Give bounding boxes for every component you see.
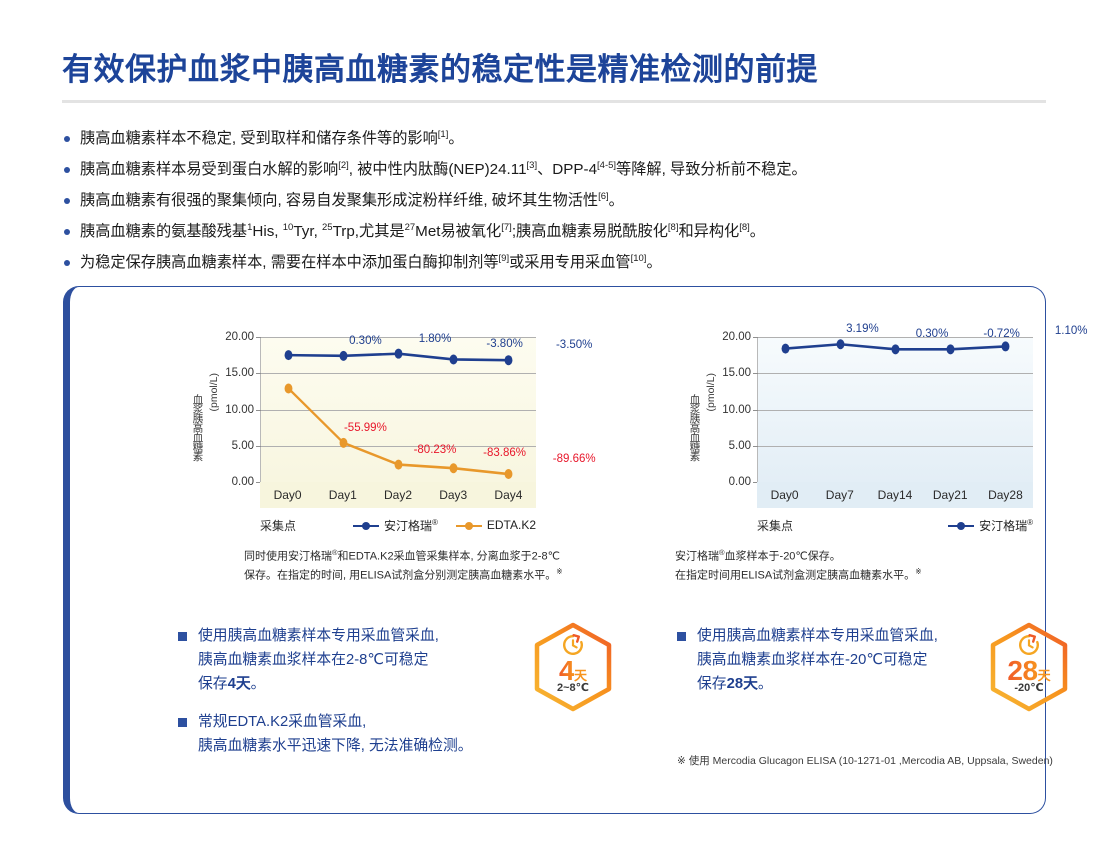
legend-item[interactable]: EDTA.K2 [456,518,536,532]
x-tick-label: Day3 [426,482,481,508]
bullet-dot-icon [64,229,70,235]
data-label: -0.72% [983,328,1019,340]
bullet-dot-icon [64,260,70,266]
x-tick-label: Day7 [812,482,867,508]
legend-label: 安汀格瑞® [979,517,1033,534]
legend-marker-icon [456,520,482,530]
y-tick-label: 10.00 [705,404,751,416]
series-point [837,339,845,349]
badge-right: 28天-20℃ [986,621,1072,713]
series-point [505,469,513,479]
chart-left-plot-area: 血浆胰高血糖素(pmol/L)0.005.0010.0015.0020.000.… [188,337,536,512]
conclusion-text: 常规EDTA.K2采血管采血,胰高血糖素水平迅速下降, 无法准确检测。 [198,711,473,759]
legend-marker-icon [353,520,379,530]
series-point [505,355,513,365]
data-label: -83.86% [483,447,526,459]
bullet-item: 胰高血糖素有很强的聚集倾向, 容易自发聚集形成淀粉样纤维, 破坏其生物活性[6]… [64,190,1054,212]
data-label: 1.80% [419,333,452,345]
series-point [340,438,348,448]
bullet-text: 胰高血糖素样本易受到蛋白水解的影响[2], 被中性内肽酶(NEP)24.11[3… [80,159,807,181]
series-point [285,350,293,360]
chart-legend: 采集点安汀格瑞® [757,515,1033,535]
square-bullet-icon [677,632,686,641]
square-bullet-icon [178,632,187,641]
chart-y-axis: 0.005.0010.0015.0020.00 [707,337,755,482]
legend-item[interactable]: 安汀格瑞® [353,517,438,534]
conclusion-list-left: 使用胰高血糖素样本专用采血管采血,胰高血糖素血浆样本在2-8℃可稳定保存4天。常… [178,625,578,773]
series-point [892,344,900,354]
y-tick-label: 5.00 [208,440,254,452]
data-label: -89.66% [553,453,596,465]
chart-series-layer [261,337,536,482]
series-point [450,463,458,473]
bullet-dot-icon [64,198,70,204]
y-tick-label: 20.00 [705,331,751,343]
x-tick-label: Day14 [867,482,922,508]
data-label: -80.23% [414,444,457,456]
series-point [1002,341,1010,351]
series-point [450,354,458,364]
chart-y-axis-title: 血浆胰高血糖素 [188,357,206,497]
y-tick-label: 5.00 [705,440,751,452]
badge-left: 4天2~8℃ [530,621,616,713]
series-point [395,460,403,470]
data-label: 1.10% [1055,325,1088,337]
footnote: ※ 使用 Mercodia Glucagon ELISA (10-1271-01… [677,753,1053,768]
title-divider [62,100,1046,103]
data-label: -55.99% [344,422,387,434]
data-label: -3.50% [556,339,592,351]
conclusion-text: 使用胰高血糖素样本专用采血管采血,胰高血糖素血浆样本在-20℃可稳定保存28天。 [697,625,938,697]
series-point [395,349,403,359]
data-label: -3.80% [486,338,522,350]
chart-right: 血浆胰高血糖素(pmol/L)0.005.0010.0015.0020.003.… [613,337,1033,512]
chart-left: 血浆胰高血糖素(pmol/L)0.005.0010.0015.0020.000.… [116,337,536,512]
bullet-item: 胰高血糖素的氨基酸残基1His, 10Tyr, 25Trp,尤其是27Met易被… [64,221,1054,243]
x-tick-label: Day0 [260,482,315,508]
legend-marker-icon [948,520,974,530]
chart-right-plot-area: 血浆胰高血糖素(pmol/L)0.005.0010.0015.0020.003.… [685,337,1033,512]
page-title: 有效保护血浆中胰高血糖素的稳定性是精准检测的前提 [62,44,818,89]
x-tick-label: Day1 [315,482,370,508]
chart-right-caption: 安汀格瑞®血浆样本于-20℃保存。在指定时间用ELISA试剂盒测定胰高血糖素水平… [675,547,921,584]
conclusion-item: 使用胰高血糖素样本专用采血管采血,胰高血糖素血浆样本在2-8℃可稳定保存4天。 [178,625,578,697]
y-tick-label: 20.00 [208,331,254,343]
legend-label: 安汀格瑞® [384,517,438,534]
chart-y-axis-title: 血浆胰高血糖素 [685,357,703,497]
series-point [340,351,348,361]
chart-plot: 0.30%1.80%-3.80%-3.50%-55.99%-80.23%-83.… [260,337,536,482]
series-point [782,344,790,354]
badge-temperature: 2~8℃ [530,681,616,694]
conclusion-item: 常规EDTA.K2采血管采血,胰高血糖素水平迅速下降, 无法准确检测。 [178,711,578,759]
y-tick-label: 0.00 [705,476,751,488]
data-label: 0.30% [349,335,382,347]
badge-temperature: -20℃ [986,681,1072,694]
bullet-text: 胰高血糖素的氨基酸残基1His, 10Tyr, 25Trp,尤其是27Met易被… [80,221,765,243]
x-tick-label: Day28 [978,482,1033,508]
x-tick-label: Day0 [757,482,812,508]
series-point [947,344,955,354]
bullet-item: 为稳定保存胰高血糖素样本, 需要在样本中添加蛋白酶抑制剂等[9]或采用专用采血管… [64,252,1054,274]
bullet-list: 胰高血糖素样本不稳定, 受到取样和储存条件等的影响[1]。胰高血糖素样本易受到蛋… [64,128,1054,283]
x-tick-label: Day4 [481,482,536,508]
chart-legend: 采集点安汀格瑞®EDTA.K2 [260,515,536,535]
poster-page: 有效保护血浆中胰高血糖素的稳定性是精准检测的前提 胰高血糖素样本不稳定, 受到取… [0,0,1108,843]
bullet-dot-icon [64,136,70,142]
conclusion-text: 使用胰高血糖素样本专用采血管采血,胰高血糖素血浆样本在2-8℃可稳定保存4天。 [198,625,439,697]
y-tick-label: 15.00 [208,367,254,379]
chart-x-axis-title: 采集点 [757,517,793,534]
chart-y-axis: 0.005.0010.0015.0020.00 [210,337,258,482]
square-bullet-icon [178,718,187,727]
bullet-item: 胰高血糖素样本易受到蛋白水解的影响[2], 被中性内肽酶(NEP)24.11[3… [64,159,1054,181]
data-label: 0.30% [916,328,949,340]
legend-label: EDTA.K2 [487,518,536,532]
series-point [285,383,293,393]
bullet-dot-icon [64,167,70,173]
y-tick-label: 15.00 [705,367,751,379]
chart-series-layer [758,337,1033,482]
chart-plot: 3.19%0.30%-0.72%1.10% [757,337,1033,482]
bullet-text: 为稳定保存胰高血糖素样本, 需要在样本中添加蛋白酶抑制剂等[9]或采用专用采血管… [80,252,662,274]
chart-left-caption: 同时使用安汀格瑞®和EDTA.K2采血管采集样本, 分离血浆于2-8℃保存。在指… [244,547,563,584]
bullet-item: 胰高血糖素样本不稳定, 受到取样和储存条件等的影响[1]。 [64,128,1054,150]
chart-x-axis: Day0Day1Day2Day3Day4 [260,482,536,508]
y-tick-label: 0.00 [208,476,254,488]
bullet-text: 胰高血糖素样本不稳定, 受到取样和储存条件等的影响[1]。 [80,128,464,150]
chart-x-axis: Day0Day7Day14Day21Day28 [757,482,1033,508]
bullet-text: 胰高血糖素有很强的聚集倾向, 容易自发聚集形成淀粉样纤维, 破坏其生物活性[6]… [80,190,624,212]
evidence-card: 血浆胰高血糖素(pmol/L)0.005.0010.0015.0020.000.… [63,286,1046,814]
x-tick-label: Day2 [370,482,425,508]
data-label: 3.19% [846,323,879,335]
y-tick-label: 10.00 [208,404,254,416]
chart-x-axis-title: 采集点 [260,517,296,534]
x-tick-label: Day21 [923,482,978,508]
legend-item[interactable]: 安汀格瑞® [948,517,1033,534]
